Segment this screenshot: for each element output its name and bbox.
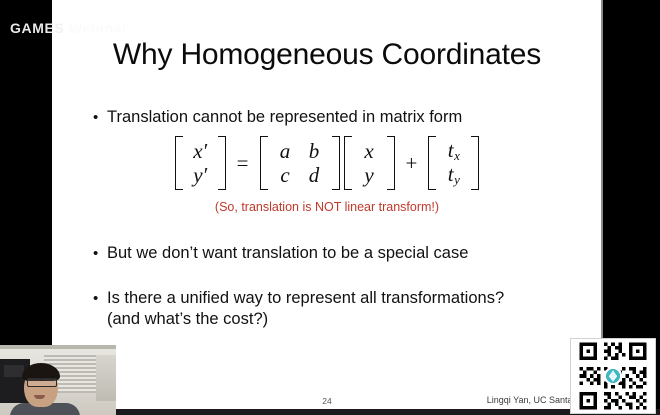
bullet-marker-icon: •	[93, 107, 107, 128]
matrix-equation: x′ y′ = a b c d	[52, 136, 602, 190]
bullet-item-1: • Translation cannot be represented in m…	[93, 107, 462, 128]
matrix-cell-d: d	[300, 163, 329, 188]
qr-code[interactable]	[570, 338, 656, 414]
bullet-item-2: • But we don’t want translation to be a …	[93, 243, 468, 264]
bracket-left-icon	[260, 136, 268, 190]
bracket-right-icon	[471, 136, 479, 190]
plus-sign: +	[397, 151, 427, 176]
bullet-text-1: Translation cannot be represented in mat…	[107, 107, 462, 128]
presentation-screen: Why Homogeneous Coordinates • Translatio…	[0, 0, 660, 415]
lhs-cell-x-prime: x′	[186, 139, 215, 164]
bullet-item-3: • Is there a unified way to represent al…	[93, 288, 504, 330]
equation-point-vector: x y	[342, 136, 397, 190]
bracket-left-icon	[344, 136, 352, 190]
matrix-cell-c: c	[271, 163, 300, 188]
bullet-text-2: But we don’t want translation to be a sp…	[107, 243, 468, 264]
slide-note-warning: (So, translation is NOT linear transform…	[52, 200, 602, 214]
bracket-right-icon	[387, 136, 395, 190]
translation-cell-ty: ty	[439, 162, 468, 189]
bullet-marker-icon: •	[93, 243, 107, 264]
vector-cell-y: y	[355, 163, 384, 188]
bracket-right-icon	[218, 136, 226, 190]
lhs-cell-y-prime: y′	[186, 163, 215, 188]
webcam-video-thumbnail[interactable]	[0, 345, 116, 415]
bracket-left-icon	[428, 136, 436, 190]
equation-lhs-vector: x′ y′	[173, 136, 228, 190]
matrix-cell-a: a	[271, 139, 300, 164]
vector-cell-x: x	[355, 139, 384, 164]
slide-title: Why Homogeneous Coordinates	[52, 38, 602, 72]
slide-canvas: Why Homogeneous Coordinates • Translatio…	[52, 0, 602, 410]
bracket-right-icon	[332, 136, 340, 190]
webcam-wall-panel	[96, 355, 116, 401]
matrix-cell-b: b	[300, 139, 329, 164]
equals-sign: =	[228, 151, 258, 176]
bullet-text-3: Is there a unified way to represent all …	[107, 288, 504, 330]
bullet-marker-icon: •	[93, 288, 107, 309]
webcam-top-bar	[0, 345, 116, 349]
translation-cell-tx: tx	[439, 138, 468, 165]
glasses-icon	[27, 378, 57, 387]
equation-translation-vector: tx ty	[426, 136, 481, 190]
bracket-left-icon	[175, 136, 183, 190]
equation-transform-matrix: a b c d	[258, 136, 342, 190]
